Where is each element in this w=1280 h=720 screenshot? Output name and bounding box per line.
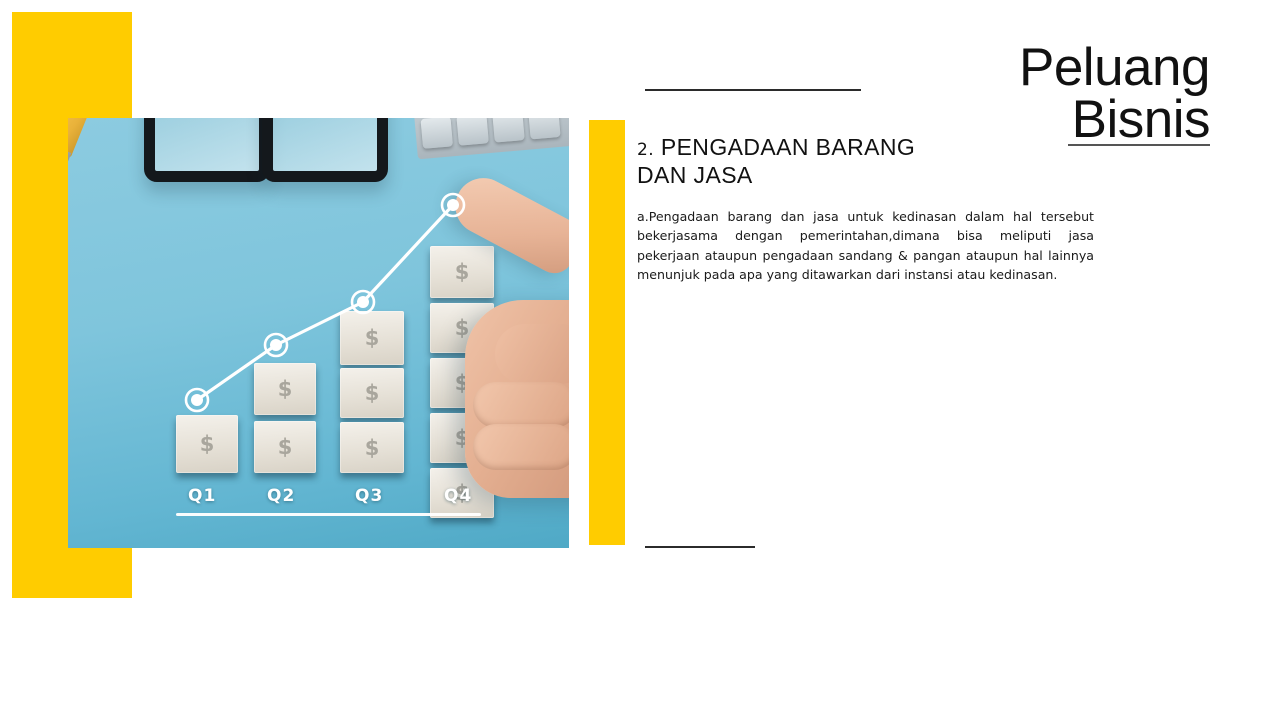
hand-knuckle xyxy=(495,324,569,384)
keyboard-key xyxy=(456,118,489,146)
chart-xtick-q4: Q4 xyxy=(444,486,472,506)
chart-xtick-q1: Q1 xyxy=(188,486,216,506)
growth-chart-photo: $ $ $ $ $ $ $ $ $ $ $ xyxy=(68,118,569,548)
keyboard-prop xyxy=(413,118,569,159)
block-q1-1: $ xyxy=(176,415,238,473)
divider-bottom xyxy=(645,546,755,548)
keyboard-key xyxy=(421,118,454,149)
glasses-lens-left xyxy=(144,118,270,182)
chart-xtick-q2: Q2 xyxy=(267,486,295,506)
trend-node-q2 xyxy=(265,334,287,356)
section-number: 2. xyxy=(637,140,654,160)
keyboard-key xyxy=(528,118,561,139)
hand-finger-ring xyxy=(473,424,569,470)
block-q3-1: $ xyxy=(340,422,404,473)
eyeglasses-prop xyxy=(144,118,372,166)
pointing-hand-prop xyxy=(445,196,569,496)
page-title-line-1: Peluang xyxy=(650,42,1210,94)
block-q2-2: $ xyxy=(254,363,316,415)
pencil-prop xyxy=(68,118,87,157)
hand-finger-index xyxy=(446,168,569,279)
section-heading-line-2: DAN JASA xyxy=(637,162,753,188)
trend-node-q3 xyxy=(352,291,374,313)
block-q3-2: $ xyxy=(340,368,404,418)
block-q2-1: $ xyxy=(254,421,316,473)
section-heading-line-1: PENGADAAN BARANG xyxy=(661,134,915,160)
trend-polyline xyxy=(197,205,453,400)
chart-axis-line xyxy=(176,513,481,516)
trend-node-q1 xyxy=(186,389,208,411)
section-heading: 2. PENGADAAN BARANG DAN JASA xyxy=(637,135,1037,188)
keyboard-key xyxy=(492,118,525,143)
photo-scene: $ $ $ $ $ $ $ $ $ $ $ xyxy=(68,118,569,548)
chart-xtick-q3: Q3 xyxy=(355,486,383,506)
accent-block-middle xyxy=(589,120,625,545)
block-q3-3: $ xyxy=(340,311,404,365)
hand-finger-middle xyxy=(473,382,569,428)
section-body-text: a.Pengadaan barang dan jasa untuk kedina… xyxy=(637,207,1094,285)
page-title: Peluang Bisnis xyxy=(650,42,1210,146)
glasses-lens-right xyxy=(262,118,388,182)
